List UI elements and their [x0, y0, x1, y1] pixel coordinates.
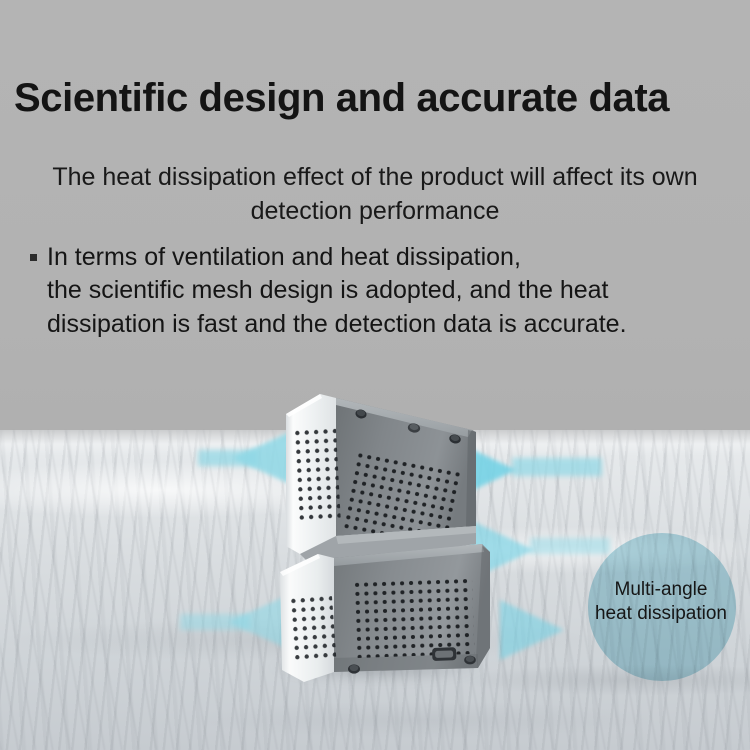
feature-bullet-text: In terms of ventilation and heat dissipa… [47, 241, 627, 341]
detector-device [262, 386, 502, 686]
product-feature-poster: Scientific design and accurate data The … [0, 0, 750, 750]
page-title: Scientific design and accurate data [14, 76, 736, 120]
airflow-tail-mid-right [530, 538, 610, 554]
square-bullet-icon [30, 254, 37, 261]
airflow-arrow-bottom-right [500, 600, 564, 660]
airflow-tail-top-right [512, 458, 602, 476]
callout-label: Multi-angle heat dissipation [566, 578, 750, 627]
subtitle-text: The heat dissipation effect of the produ… [0, 161, 750, 228]
feature-bullet: In terms of ventilation and heat dissipa… [30, 241, 730, 341]
